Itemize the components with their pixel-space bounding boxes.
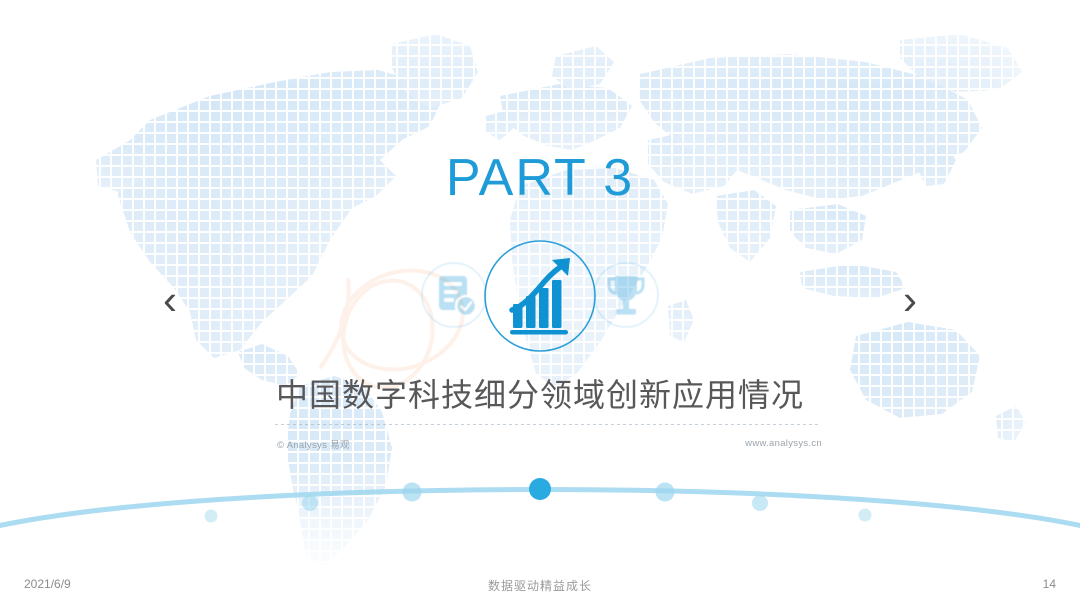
- progress-dot[interactable]: [403, 483, 422, 502]
- website-url: www.analysys.cn: [745, 438, 822, 449]
- progress-dot[interactable]: [302, 495, 318, 511]
- divider-line: [275, 424, 820, 425]
- progress-dots: [205, 478, 872, 523]
- slide-canvas: PART 3: [0, 0, 1080, 608]
- progress-dot[interactable]: [859, 509, 872, 522]
- document-check-icon: [419, 260, 489, 330]
- trophy-icon: [591, 260, 661, 330]
- progress-dot[interactable]: [656, 483, 675, 502]
- footer-page-number: 14: [1043, 577, 1056, 591]
- progress-arc: [0, 460, 1080, 550]
- footer-tagline: 数据驱动精益成长: [0, 577, 1080, 594]
- progress-dot[interactable]: [205, 510, 218, 523]
- chevron-right-icon[interactable]: ›: [888, 272, 932, 328]
- section-title: 中国数字科技细分领域创新应用情况: [0, 370, 1080, 416]
- bar-chart-growth-icon: [480, 236, 600, 356]
- copyright-text: © Analysys 易观: [277, 437, 350, 451]
- progress-dot[interactable]: [752, 495, 768, 511]
- icon-cluster: [415, 236, 665, 361]
- progress-dot-active[interactable]: [529, 478, 551, 500]
- part-label: PART 3: [0, 148, 1080, 208]
- chevron-left-icon[interactable]: ‹: [148, 272, 192, 328]
